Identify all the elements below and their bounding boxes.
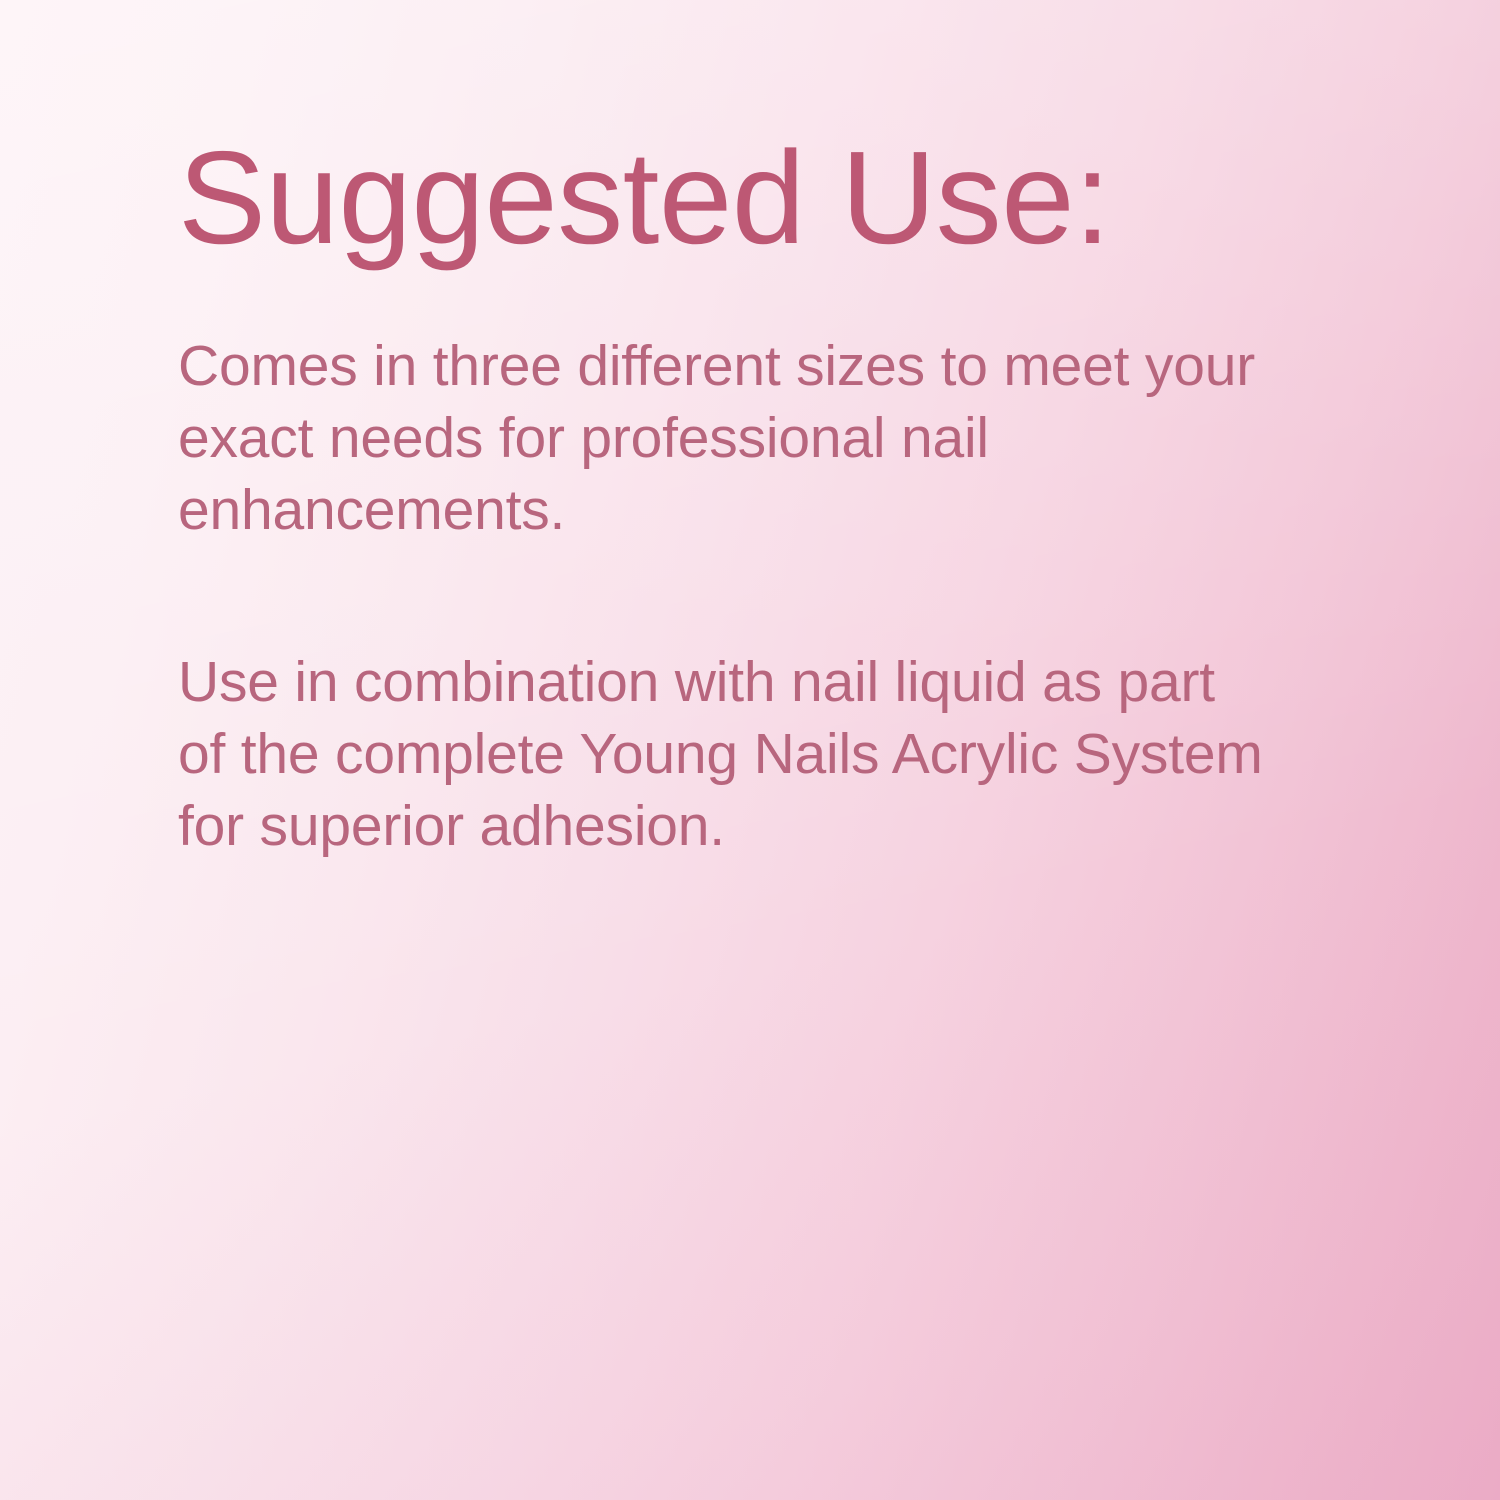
description-block: Comes in three different sizes to meet y… xyxy=(178,330,1268,862)
page-title: Suggested Use: xyxy=(178,0,1268,264)
description-paragraph-usage: Use in combination with nail liquid as p… xyxy=(178,646,1263,862)
content-column: Suggested Use: Comes in three different … xyxy=(178,0,1268,862)
description-paragraph-sizes: Comes in three different sizes to meet y… xyxy=(178,330,1263,546)
suggested-use-panel: Suggested Use: Comes in three different … xyxy=(0,0,1500,1500)
